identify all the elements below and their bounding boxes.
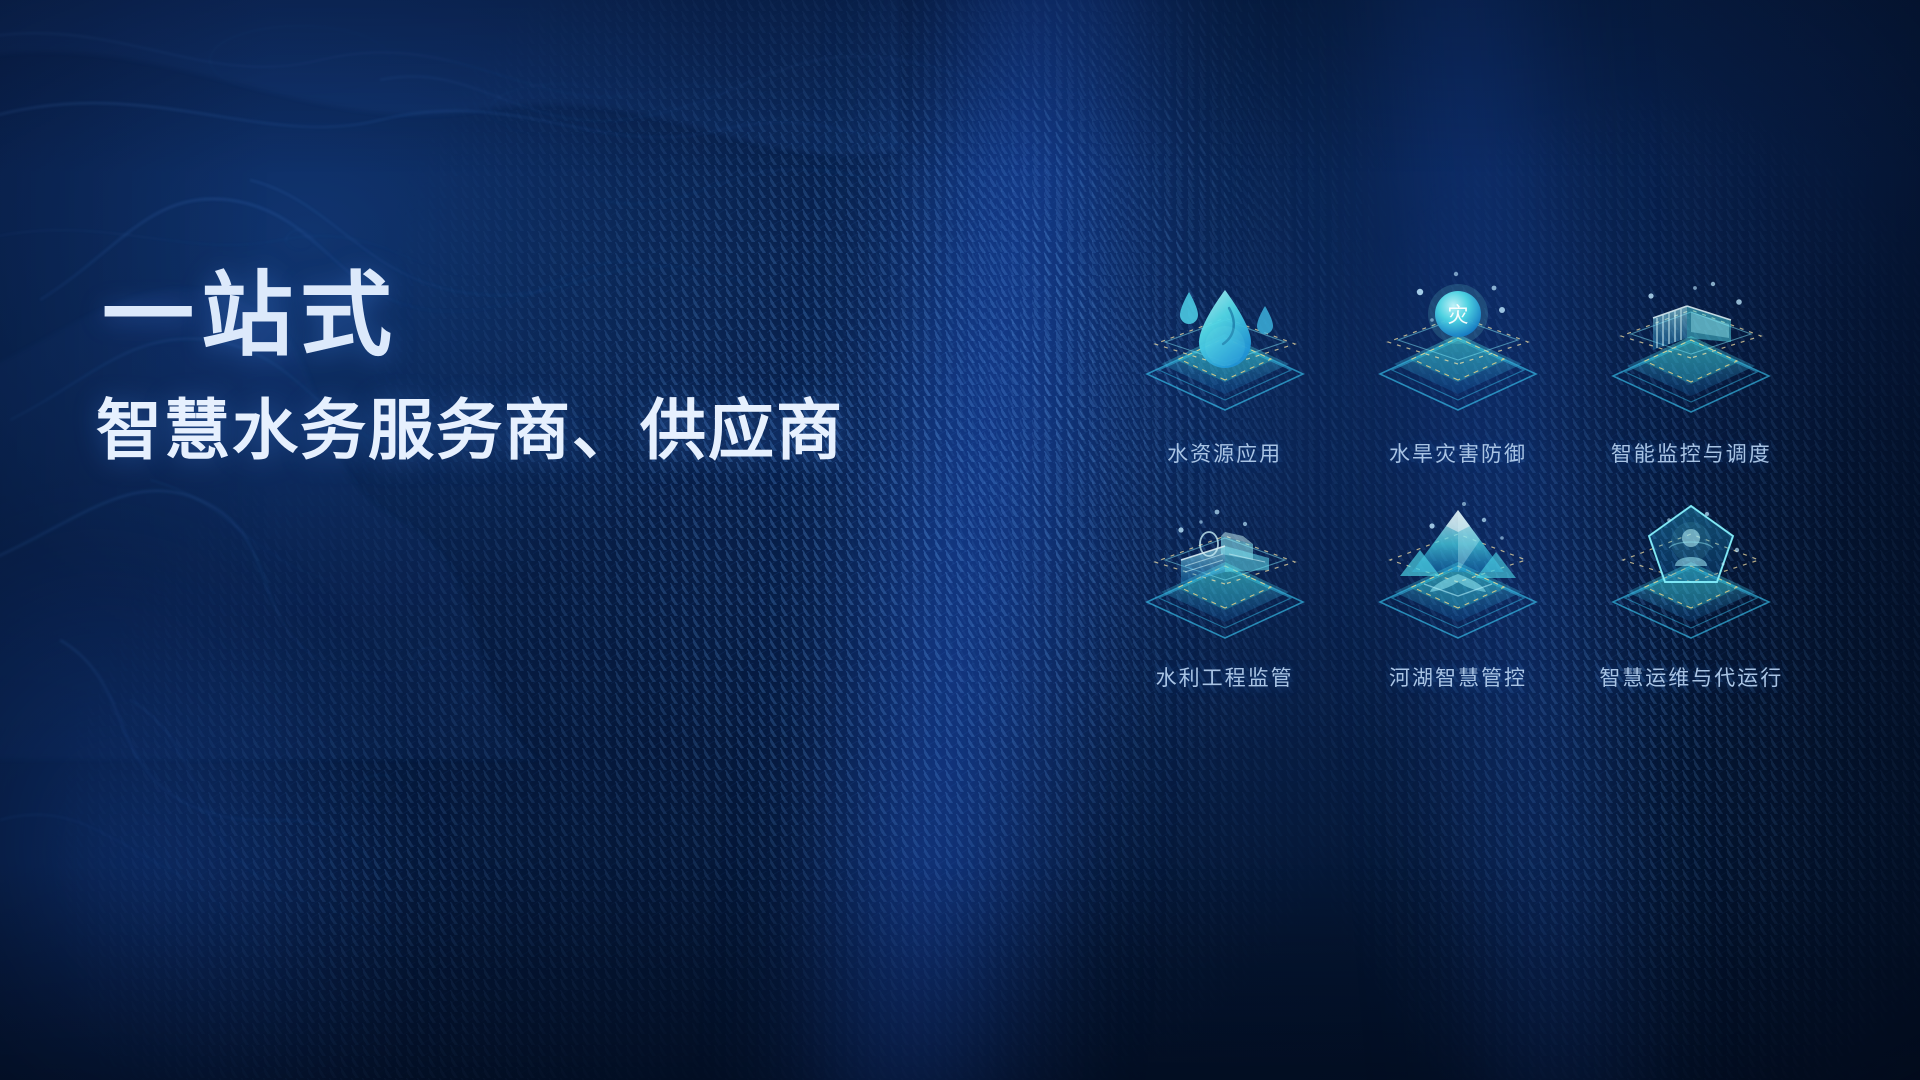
service-label: 水利工程监管 (1156, 662, 1294, 692)
slide-stage: 一站式 智慧水务服务商、供应商 (0, 0, 1920, 1080)
shield-ops-icon (1591, 486, 1791, 654)
service-label: 智慧运维与代运行 (1599, 662, 1783, 692)
service-label: 水旱灾害防御 (1389, 438, 1527, 468)
light-glow-left (0, 457, 495, 1080)
service-label: 河湖智慧管控 (1389, 662, 1527, 692)
hydro-facility-icon (1125, 486, 1325, 654)
service-item-smart-monitor-dispatch[interactable]: 智能监控与调度 (1575, 262, 1808, 486)
dam-monitor-icon (1591, 262, 1791, 430)
page-title: 一站式 (102, 268, 856, 366)
water-drop-icon (1125, 262, 1325, 430)
service-label: 智能监控与调度 (1611, 438, 1772, 468)
service-item-water-resource[interactable]: 水资源应用 (1108, 262, 1341, 486)
service-item-hydro-engineering-supervision[interactable]: 水利工程监管 (1108, 486, 1341, 710)
sphere-glyph: 灾 (1447, 304, 1468, 327)
mountain-river-icon (1358, 486, 1558, 654)
disaster-sphere-icon: 灾 (1358, 262, 1558, 430)
service-grid: 水资源应用 (1108, 262, 1808, 710)
service-label: 水资源应用 (1167, 438, 1282, 468)
service-item-river-lake-control[interactable]: 河湖智慧管控 (1341, 486, 1574, 710)
service-item-flood-drought-defense[interactable]: 灾 水旱灾害防御 (1341, 262, 1574, 486)
hero-text-block: 一站式 智慧水务服务商、供应商 (96, 268, 856, 467)
page-subtitle: 智慧水务服务商、供应商 (96, 394, 856, 468)
service-item-smart-ops-outsourcing[interactable]: 智慧运维与代运行 (1575, 486, 1808, 710)
